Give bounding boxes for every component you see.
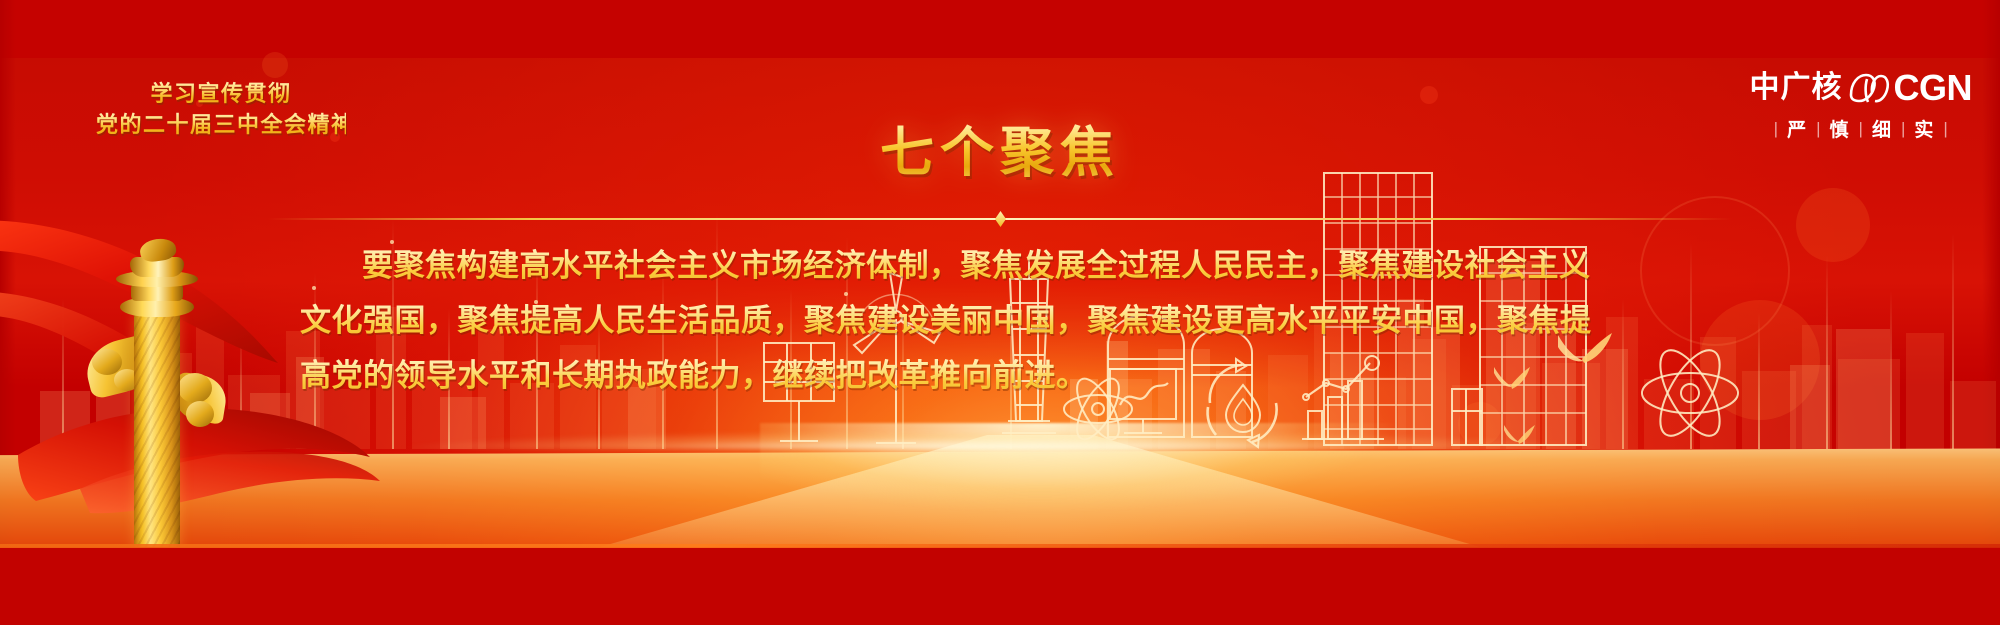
light-beam (1826, 255, 1828, 449)
logo-wordmark-row: 中广核 CGN (1750, 70, 1973, 106)
subtitle-line-1: 学习宣传贯彻 (96, 78, 346, 109)
body-line-2: 文化强国，聚焦提高人民生活品质，聚焦建设美丽中国，聚焦建设更高水平平安中国，聚焦… (300, 293, 1700, 348)
bottom-band (0, 547, 2000, 625)
light-beam (1952, 233, 1954, 449)
bokeh-circle (262, 52, 288, 78)
huabiao-cloud-knot (186, 401, 214, 427)
body-paragraph: 要聚焦构建高水平社会主义市场经济体制，聚焦发展全过程人民民主，聚焦建设社会主义 … (300, 238, 1700, 403)
cgn-swoosh-icon (1846, 71, 1892, 105)
logo-chinese-name: 中广核 (1750, 73, 1843, 103)
logo-english-name: CGN (1894, 70, 1973, 106)
body-line-1: 要聚焦构建高水平社会主义市场经济体制，聚焦发展全过程人民民主，聚焦建设社会主义 (300, 238, 1700, 293)
page-title: 七个聚焦 (0, 108, 2000, 187)
bokeh-circle (1420, 86, 1438, 104)
background-top-band (0, 0, 2000, 58)
body-line-3: 高党的领导水平和长期执政能力，继续把改革推向前进。 (300, 348, 1700, 403)
huabiao-cloud-knot (178, 373, 212, 403)
promotional-banner: 学习宣传贯彻 党的二十届三中全会精神 中广核 CGN | 严 | 慎 | 细 |… (0, 0, 2000, 625)
page-title-text: 七个聚焦 (880, 108, 1120, 187)
huabiao-shaft (134, 313, 180, 553)
gold-divider (268, 214, 1732, 224)
huabiao-column (86, 243, 216, 553)
dove-icon (1500, 421, 1540, 457)
